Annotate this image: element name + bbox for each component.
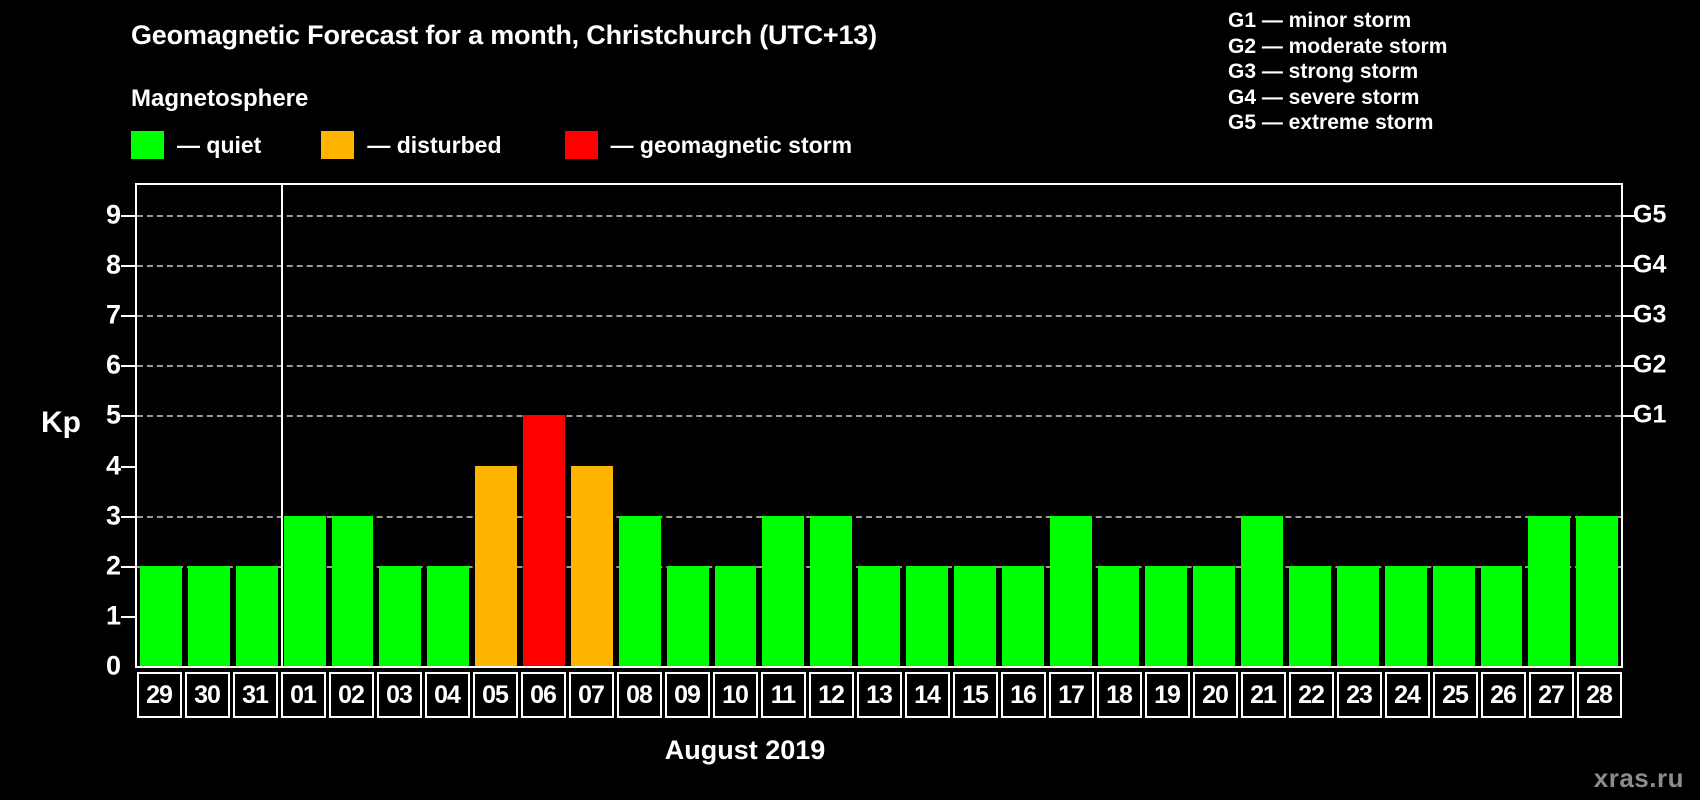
day-label-21[interactable]: 21 — [1241, 672, 1286, 718]
bar-31[interactable] — [236, 566, 278, 666]
y-tick-6: 6 — [106, 350, 121, 381]
day-label-30[interactable]: 30 — [185, 672, 230, 718]
g-tick-g4: G4 — [1633, 251, 1666, 280]
legend-item-storm: — geomagnetic storm — [565, 131, 853, 159]
bar-slot-14[interactable] — [903, 185, 951, 666]
y-tick-4: 4 — [106, 450, 121, 481]
g-scale-row-g3: G3 — strong storm — [1228, 59, 1447, 85]
bar-slot-30[interactable] — [185, 185, 233, 666]
g-tickmark-g5 — [1623, 215, 1637, 217]
y-tick-5: 5 — [106, 400, 121, 431]
day-label-25[interactable]: 25 — [1433, 672, 1478, 718]
bar-11[interactable] — [762, 516, 804, 666]
bar-30[interactable] — [188, 566, 230, 666]
chart-canvas: Geomagnetic Forecast for a month, Christ… — [0, 0, 1700, 800]
y-tickmark-1 — [121, 616, 135, 618]
day-label-14[interactable]: 14 — [905, 672, 950, 718]
x-axis-title-text: August 2019 — [665, 735, 826, 765]
y-tickmark-2 — [121, 566, 135, 568]
day-label-04[interactable]: 04 — [425, 672, 470, 718]
day-label-07[interactable]: 07 — [569, 672, 614, 718]
legend-label-quiet: — quiet — [177, 132, 261, 159]
bar-slot-25[interactable] — [1430, 185, 1478, 666]
bar-07[interactable] — [571, 466, 613, 666]
bar-slot-05[interactable] — [472, 185, 520, 666]
y-tick-1: 1 — [106, 600, 121, 631]
bar-slot-15[interactable] — [951, 185, 999, 666]
y-tickmark-5 — [121, 415, 135, 417]
g-tick-g2: G2 — [1633, 351, 1666, 380]
orange-square-icon — [321, 131, 354, 159]
bar-slot-31[interactable] — [233, 185, 281, 666]
bar-06[interactable] — [523, 415, 565, 666]
green-square-icon — [131, 131, 164, 159]
g-tick-g1: G1 — [1633, 401, 1666, 430]
bar-slot-13[interactable] — [855, 185, 903, 666]
plot-area — [135, 183, 1623, 668]
g-tick-g3: G3 — [1633, 301, 1666, 330]
bar-09[interactable] — [667, 566, 709, 666]
bar-05[interactable] — [475, 466, 517, 666]
y-tick-0: 0 — [106, 651, 121, 682]
day-label-27[interactable]: 27 — [1529, 672, 1574, 718]
y-tickmark-8 — [121, 265, 135, 267]
day-label-24[interactable]: 24 — [1385, 672, 1430, 718]
bar-slot-11[interactable] — [759, 185, 807, 666]
bar-17[interactable] — [1050, 516, 1092, 666]
bar-slot-02[interactable] — [329, 185, 377, 666]
g-tick-g5: G5 — [1633, 201, 1666, 230]
day-label-06[interactable]: 06 — [521, 672, 566, 718]
bar-03[interactable] — [379, 566, 421, 666]
y-tick-8: 8 — [106, 250, 121, 281]
bar-28[interactable] — [1576, 516, 1618, 666]
bar-29[interactable] — [140, 566, 182, 666]
y-tickmark-9 — [121, 215, 135, 217]
g-tickmark-g4 — [1623, 265, 1637, 267]
bar-01[interactable] — [284, 516, 326, 666]
bar-24[interactable] — [1385, 566, 1427, 666]
bar-08[interactable] — [619, 516, 661, 666]
magnetosphere-heading: Magnetosphere — [131, 85, 308, 113]
day-label-01[interactable]: 01 — [281, 672, 326, 718]
day-label-26[interactable]: 26 — [1481, 672, 1526, 718]
bar-19[interactable] — [1145, 566, 1187, 666]
bar-slot-29[interactable] — [137, 185, 185, 666]
forecast-divider — [281, 185, 283, 666]
legend-label-storm: — geomagnetic storm — [611, 132, 853, 159]
day-label-22[interactable]: 22 — [1289, 672, 1334, 718]
bar-slot-10[interactable] — [712, 185, 760, 666]
day-label-28[interactable]: 28 — [1577, 672, 1622, 718]
bar-27[interactable] — [1528, 516, 1570, 666]
g-axis-ticks: G1G2G3G4G5 — [1633, 183, 1695, 668]
y-tick-3: 3 — [106, 500, 121, 531]
bar-slot-27[interactable] — [1525, 185, 1573, 666]
x-axis-day-labels: 2930310102030405060708091011121314151617… — [135, 672, 1623, 718]
bar-slot-18[interactable] — [1095, 185, 1143, 666]
bar-13[interactable] — [858, 566, 900, 666]
bar-slot-23[interactable] — [1334, 185, 1382, 666]
bar-20[interactable] — [1193, 566, 1235, 666]
day-label-31[interactable]: 31 — [233, 672, 278, 718]
y-tick-2: 2 — [106, 550, 121, 581]
y-tick-7: 7 — [106, 300, 121, 331]
bar-slot-19[interactable] — [1142, 185, 1190, 666]
bar-04[interactable] — [427, 566, 469, 666]
day-label-15[interactable]: 15 — [953, 672, 998, 718]
x-axis-title: August 2019 — [0, 735, 1700, 766]
bar-16[interactable] — [1002, 566, 1044, 666]
y-tickmark-4 — [121, 466, 135, 468]
bar-slot-17[interactable] — [1047, 185, 1095, 666]
red-square-icon — [565, 131, 598, 159]
bar-slot-21[interactable] — [1238, 185, 1286, 666]
bar-14[interactable] — [906, 566, 948, 666]
bar-22[interactable] — [1289, 566, 1331, 666]
g-scale-row-g1: G1 — minor storm — [1228, 8, 1447, 34]
bar-slot-03[interactable] — [376, 185, 424, 666]
day-label-16[interactable]: 16 — [1001, 672, 1046, 718]
bar-slot-04[interactable] — [424, 185, 472, 666]
bar-15[interactable] — [954, 566, 996, 666]
g-tickmark-g1 — [1623, 415, 1637, 417]
y-tickmark-3 — [121, 516, 135, 518]
y-tick-9: 9 — [106, 200, 121, 231]
g-scale-legend: G1 — minor storm G2 — moderate storm G3 … — [1228, 8, 1447, 136]
g-scale-row-g2: G2 — moderate storm — [1228, 34, 1447, 60]
bar-23[interactable] — [1337, 566, 1379, 666]
bar-series — [137, 185, 1621, 666]
legend-item-disturbed: — disturbed — [321, 131, 501, 159]
day-label-13[interactable]: 13 — [857, 672, 902, 718]
bar-slot-20[interactable] — [1190, 185, 1238, 666]
bar-18[interactable] — [1098, 566, 1140, 666]
bar-slot-26[interactable] — [1478, 185, 1526, 666]
magnetosphere-legend: — quiet — disturbed — geomagnetic storm — [131, 131, 852, 159]
bar-slot-22[interactable] — [1286, 185, 1334, 666]
bar-slot-28[interactable] — [1573, 185, 1621, 666]
bar-slot-01[interactable] — [281, 185, 329, 666]
day-label-20[interactable]: 20 — [1193, 672, 1238, 718]
day-label-12[interactable]: 12 — [809, 672, 854, 718]
bar-slot-08[interactable] — [616, 185, 664, 666]
day-label-23[interactable]: 23 — [1337, 672, 1382, 718]
g-tickmark-g2 — [1623, 365, 1637, 367]
y-tickmark-6 — [121, 365, 135, 367]
bar-12[interactable] — [810, 516, 852, 666]
day-label-05[interactable]: 05 — [473, 672, 518, 718]
bar-21[interactable] — [1241, 516, 1283, 666]
day-label-09[interactable]: 09 — [665, 672, 710, 718]
y-axis-ticks: 0123456789 — [73, 183, 121, 668]
day-label-18[interactable]: 18 — [1097, 672, 1142, 718]
g-tickmark-g3 — [1623, 315, 1637, 317]
day-label-10[interactable]: 10 — [713, 672, 758, 718]
day-label-17[interactable]: 17 — [1049, 672, 1094, 718]
bar-26[interactable] — [1481, 566, 1523, 666]
bar-10[interactable] — [715, 566, 757, 666]
bar-slot-07[interactable] — [568, 185, 616, 666]
day-label-19[interactable]: 19 — [1145, 672, 1190, 718]
day-label-11[interactable]: 11 — [761, 672, 806, 718]
day-label-08[interactable]: 08 — [617, 672, 662, 718]
day-label-29[interactable]: 29 — [137, 672, 182, 718]
day-label-02[interactable]: 02 — [329, 672, 374, 718]
bar-slot-09[interactable] — [664, 185, 712, 666]
bar-25[interactable] — [1433, 566, 1475, 666]
legend-label-disturbed: — disturbed — [367, 132, 501, 159]
bar-slot-06[interactable] — [520, 185, 568, 666]
legend-item-quiet: — quiet — [131, 131, 261, 159]
page-title: Geomagnetic Forecast for a month, Christ… — [131, 20, 877, 51]
bar-slot-24[interactable] — [1382, 185, 1430, 666]
bar-slot-16[interactable] — [999, 185, 1047, 666]
day-label-03[interactable]: 03 — [377, 672, 422, 718]
g-scale-row-g4: G4 — severe storm — [1228, 85, 1447, 111]
watermark: xras.ru — [1594, 763, 1684, 794]
g-scale-row-g5: G5 — extreme storm — [1228, 110, 1447, 136]
y-tickmark-7 — [121, 315, 135, 317]
bar-02[interactable] — [332, 516, 374, 666]
bar-slot-12[interactable] — [807, 185, 855, 666]
